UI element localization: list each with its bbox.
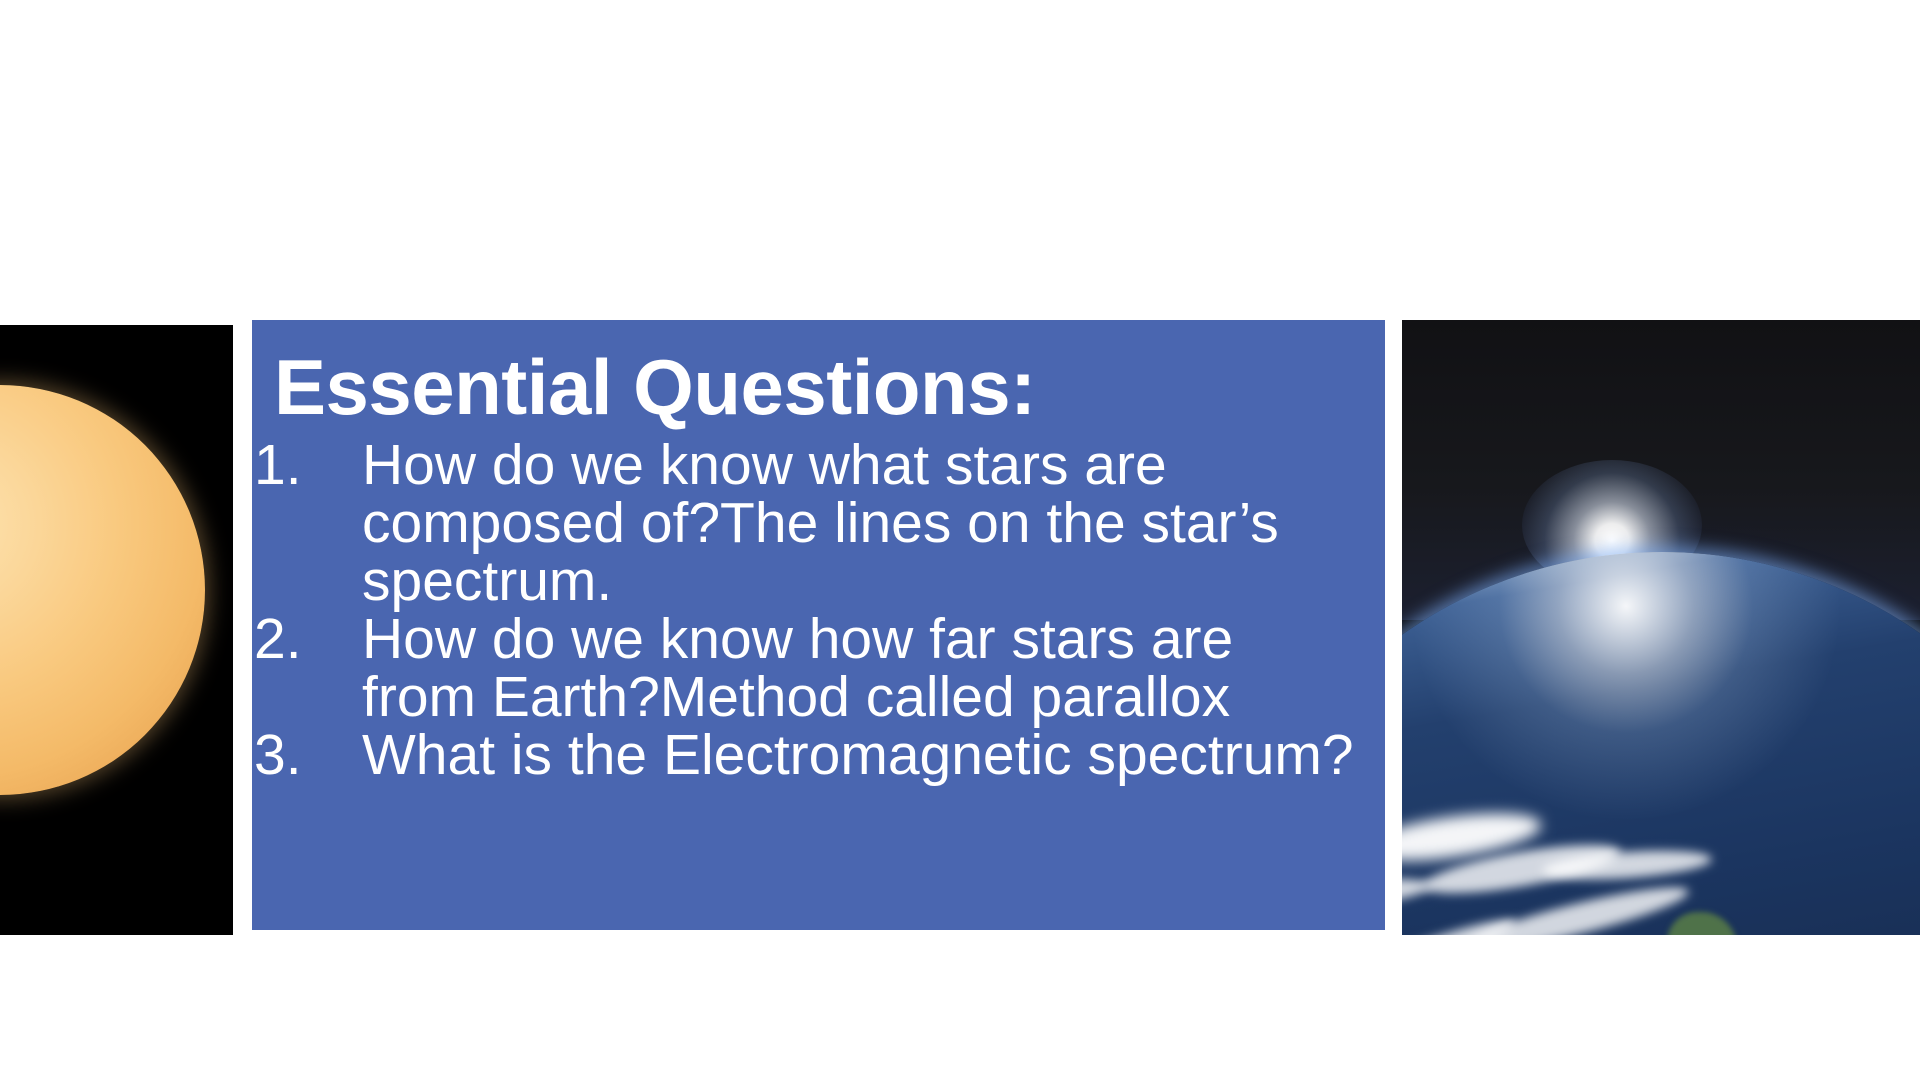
landmass bbox=[1667, 912, 1737, 935]
content-panel-inner: Essential Questions: How do we know what… bbox=[252, 320, 1385, 784]
earth-limb bbox=[1402, 552, 1920, 935]
cloud bbox=[1402, 909, 1520, 935]
page-title: Essential Questions: bbox=[252, 320, 1385, 428]
presentation-slide: Essential Questions: How do we know what… bbox=[0, 0, 1920, 1080]
list-item: What is the Electromagnetic spectrum? bbox=[252, 726, 1385, 784]
sun-photograph bbox=[0, 325, 233, 935]
content-panel: Essential Questions: How do we know what… bbox=[252, 320, 1385, 930]
list-item: How do we know how far stars are from Ea… bbox=[252, 610, 1385, 726]
essential-questions-list: How do we know what stars are composed o… bbox=[252, 428, 1385, 785]
list-item: How do we know what stars are composed o… bbox=[252, 436, 1385, 610]
sun-disk-icon bbox=[0, 385, 205, 795]
earth-from-space-photograph bbox=[1402, 320, 1920, 935]
